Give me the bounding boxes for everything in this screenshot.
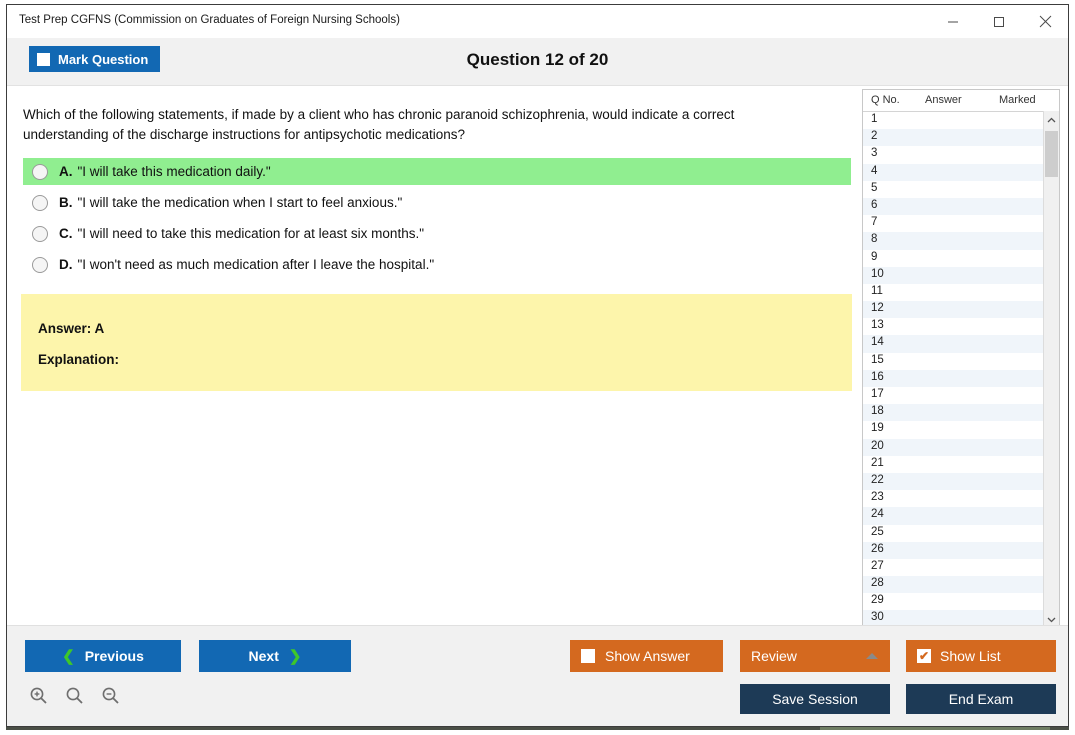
question-list-row[interactable]: 2 bbox=[863, 129, 1059, 146]
column-header-marked: Marked bbox=[999, 94, 1036, 106]
option-b-text: "I will take the medication when I start… bbox=[78, 195, 403, 210]
bottom-toolbar: ❮ Previous Next ❯ bbox=[7, 625, 1068, 726]
question-list-row-number: 2 bbox=[871, 130, 877, 142]
question-list-row-number: 14 bbox=[871, 336, 884, 348]
save-session-label: Save Session bbox=[772, 691, 858, 707]
question-list-row[interactable]: 25 bbox=[863, 525, 1059, 542]
review-dropdown[interactable]: Review bbox=[740, 640, 890, 672]
radio-icon-b[interactable] bbox=[32, 195, 48, 211]
question-list-panel: Q No. Answer Marked 12345678910111213141… bbox=[862, 89, 1060, 629]
option-a-letter: A. bbox=[59, 164, 73, 179]
mark-question-checkbox-icon bbox=[37, 53, 50, 66]
radio-icon-c[interactable] bbox=[32, 226, 48, 242]
window-bottom-tint bbox=[820, 727, 1050, 730]
chevron-up-icon bbox=[1047, 111, 1056, 129]
maximize-icon bbox=[993, 16, 1005, 28]
question-list-row-number: 20 bbox=[871, 440, 884, 452]
question-list-row-number: 10 bbox=[871, 268, 884, 280]
end-exam-label: End Exam bbox=[949, 691, 1014, 707]
question-list-row[interactable]: 19 bbox=[863, 421, 1059, 438]
mark-question-label: Mark Question bbox=[58, 52, 148, 67]
question-list-row[interactable]: 10 bbox=[863, 267, 1059, 284]
zoom-out-button[interactable] bbox=[97, 684, 125, 712]
question-list-row[interactable]: 22 bbox=[863, 473, 1059, 490]
question-list-row-number: 5 bbox=[871, 182, 877, 194]
radio-icon-a[interactable] bbox=[32, 164, 48, 180]
option-c-text: "I will need to take this medication for… bbox=[78, 226, 425, 241]
answer-label: Answer: A bbox=[38, 321, 104, 336]
answer-options-list: A. "I will take this medication daily." … bbox=[23, 158, 851, 282]
close-button[interactable] bbox=[1022, 5, 1068, 38]
option-c-letter: C. bbox=[59, 226, 73, 241]
question-list-row[interactable]: 9 bbox=[863, 250, 1059, 267]
question-list-row-number: 29 bbox=[871, 594, 884, 606]
question-list-row-number: 6 bbox=[871, 199, 877, 211]
question-list-row[interactable]: 6 bbox=[863, 198, 1059, 215]
question-list-row-number: 7 bbox=[871, 216, 877, 228]
close-icon bbox=[1039, 15, 1052, 28]
question-list-row[interactable]: 28 bbox=[863, 576, 1059, 593]
question-list-row-number: 1 bbox=[871, 113, 877, 125]
window-title: Test Prep CGFNS (Commission on Graduates… bbox=[19, 14, 400, 26]
option-b-letter: B. bbox=[59, 195, 73, 210]
explanation-label: Explanation: bbox=[38, 352, 119, 367]
question-list-row-number: 23 bbox=[871, 491, 884, 503]
exam-header-bar: Question 12 of 20 Mark Question bbox=[7, 38, 1068, 86]
question-list-row[interactable]: 16 bbox=[863, 370, 1059, 387]
show-answer-label: Show Answer bbox=[605, 648, 690, 664]
question-list-scrollbar[interactable] bbox=[1043, 111, 1059, 627]
question-list-row[interactable]: 27 bbox=[863, 559, 1059, 576]
review-label: Review bbox=[751, 648, 797, 664]
save-session-button[interactable]: Save Session bbox=[740, 684, 890, 714]
question-list-row-number: 21 bbox=[871, 457, 884, 469]
show-list-checkbox-icon: ✔ bbox=[917, 649, 931, 663]
scrollbar-thumb[interactable] bbox=[1045, 131, 1058, 177]
show-list-button[interactable]: ✔ Show List bbox=[906, 640, 1056, 672]
maximize-button[interactable] bbox=[976, 5, 1022, 38]
question-list-row-number: 4 bbox=[871, 165, 877, 177]
chevron-left-icon: ❮ bbox=[62, 649, 75, 664]
previous-button[interactable]: ❮ Previous bbox=[25, 640, 181, 672]
option-a[interactable]: A. "I will take this medication daily." bbox=[23, 158, 851, 185]
option-b[interactable]: B. "I will take the medication when I st… bbox=[23, 189, 851, 216]
next-label: Next bbox=[249, 648, 279, 664]
radio-icon-d[interactable] bbox=[32, 257, 48, 273]
question-list-row[interactable]: 1 bbox=[863, 112, 1059, 129]
question-list-row-number: 3 bbox=[871, 147, 877, 159]
question-list-row[interactable]: 20 bbox=[863, 439, 1059, 456]
question-list-row[interactable]: 4 bbox=[863, 164, 1059, 181]
question-list-row[interactable]: 11 bbox=[863, 284, 1059, 301]
question-list-row[interactable]: 29 bbox=[863, 593, 1059, 610]
question-list-header: Q No. Answer Marked bbox=[863, 90, 1059, 112]
column-header-answer: Answer bbox=[925, 94, 962, 106]
question-list-row-number: 17 bbox=[871, 388, 884, 400]
question-list-row[interactable]: 17 bbox=[863, 387, 1059, 404]
application-window: Test Prep CGFNS (Commission on Graduates… bbox=[6, 4, 1069, 727]
question-list-row-number: 11 bbox=[871, 285, 883, 297]
zoom-reset-icon bbox=[65, 686, 85, 711]
question-list-row-number: 8 bbox=[871, 233, 877, 245]
question-list-row-number: 12 bbox=[871, 302, 884, 314]
question-list-row-number: 28 bbox=[871, 577, 884, 589]
question-counter: Question 12 of 20 bbox=[7, 50, 1068, 70]
question-list-row-number: 27 bbox=[871, 560, 884, 572]
question-list-row-number: 26 bbox=[871, 543, 884, 555]
mark-question-button[interactable]: Mark Question bbox=[29, 46, 160, 72]
question-pane: Which of the following statements, if ma… bbox=[7, 86, 855, 625]
question-text: Which of the following statements, if ma… bbox=[23, 105, 823, 145]
app-root: Test Prep CGFNS (Commission on Graduates… bbox=[0, 0, 1075, 735]
question-list-row-number: 16 bbox=[871, 371, 884, 383]
question-list-row[interactable]: 8 bbox=[863, 232, 1059, 249]
question-list-row-number: 25 bbox=[871, 526, 884, 538]
question-list-body[interactable]: 1234567891011121314151617181920212223242… bbox=[863, 112, 1059, 628]
column-header-qno: Q No. bbox=[871, 94, 900, 106]
question-list-row[interactable]: 13 bbox=[863, 318, 1059, 335]
question-list-row-number: 18 bbox=[871, 405, 884, 417]
question-list-row[interactable]: 5 bbox=[863, 181, 1059, 198]
zoom-toolbar bbox=[25, 684, 125, 712]
show-list-label: Show List bbox=[940, 648, 1001, 664]
option-d[interactable]: D. "I won't need as much medication afte… bbox=[23, 251, 851, 278]
scroll-up-button[interactable] bbox=[1044, 111, 1059, 128]
show-answer-button[interactable]: Show Answer bbox=[570, 640, 723, 672]
question-list-row-number: 9 bbox=[871, 251, 877, 263]
minimize-icon bbox=[947, 16, 959, 28]
end-exam-button[interactable]: End Exam bbox=[906, 684, 1056, 714]
question-list-row-number: 22 bbox=[871, 474, 884, 486]
question-list-row[interactable]: 21 bbox=[863, 456, 1059, 473]
zoom-out-icon bbox=[101, 686, 121, 711]
title-bar: Test Prep CGFNS (Commission on Graduates… bbox=[7, 5, 1068, 38]
question-list-row-number: 19 bbox=[871, 422, 884, 434]
previous-label: Previous bbox=[85, 648, 144, 664]
question-list-row[interactable]: 24 bbox=[863, 507, 1059, 524]
chevron-right-icon: ❯ bbox=[289, 649, 302, 664]
zoom-in-icon bbox=[29, 686, 49, 711]
question-list-row[interactable]: 3 bbox=[863, 146, 1059, 163]
question-list-row-number: 15 bbox=[871, 354, 884, 366]
answer-explanation-box: Answer: A Explanation: bbox=[21, 294, 852, 391]
option-a-text: "I will take this medication daily." bbox=[78, 164, 271, 179]
question-list-row[interactable]: 23 bbox=[863, 490, 1059, 507]
question-list-row[interactable]: 7 bbox=[863, 215, 1059, 232]
question-list-row-number: 24 bbox=[871, 508, 884, 520]
question-list-row[interactable]: 12 bbox=[863, 301, 1059, 318]
question-list-row[interactable]: 26 bbox=[863, 542, 1059, 559]
zoom-in-button[interactable] bbox=[25, 684, 53, 712]
question-list-row-number: 13 bbox=[871, 319, 884, 331]
next-button[interactable]: Next ❯ bbox=[199, 640, 351, 672]
question-list-row-number: 30 bbox=[871, 611, 884, 623]
option-c[interactable]: C. "I will need to take this medication … bbox=[23, 220, 851, 247]
zoom-reset-button[interactable] bbox=[61, 684, 89, 712]
option-d-text: "I won't need as much medication after I… bbox=[78, 257, 435, 272]
question-list-row[interactable]: 18 bbox=[863, 404, 1059, 421]
minimize-button[interactable] bbox=[930, 5, 976, 38]
window-controls bbox=[930, 5, 1068, 38]
option-d-letter: D. bbox=[59, 257, 73, 272]
question-list-row[interactable]: 15 bbox=[863, 353, 1059, 370]
chevron-up-icon-review bbox=[866, 653, 878, 659]
question-list-row[interactable]: 14 bbox=[863, 335, 1059, 352]
show-answer-checkbox-icon bbox=[581, 649, 595, 663]
